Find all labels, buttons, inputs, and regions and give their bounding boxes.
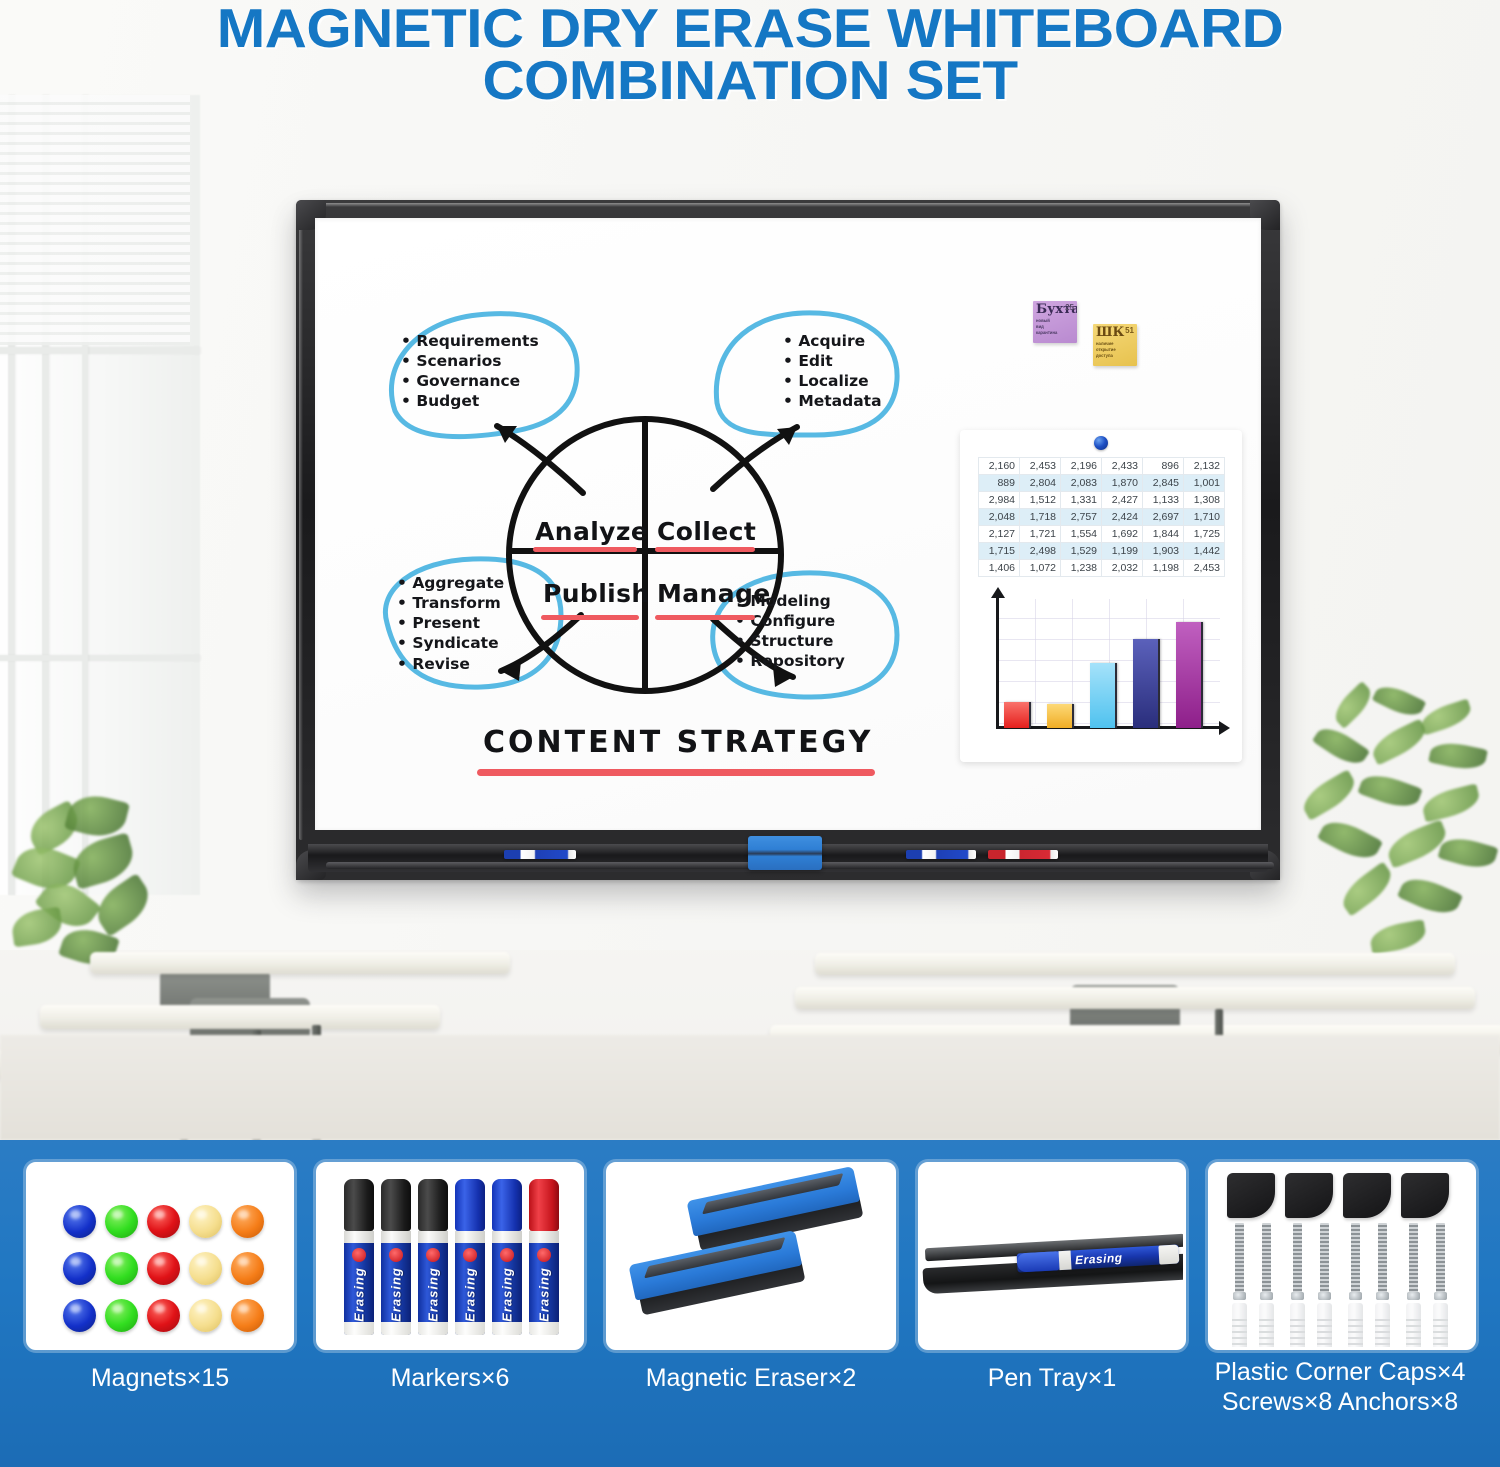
panel-magnets [26,1162,294,1350]
marker-collar [529,1231,559,1243]
anchor [1406,1303,1421,1350]
marker-brand: Erasing [537,1267,552,1322]
magnet [63,1205,96,1238]
bubble-item: Edit [783,351,882,371]
data-card: 2,1602,4532,1962,4338962,1328892,8042,08… [960,430,1242,762]
bubble-item: Syndicate [397,633,504,653]
table-row: 2,0481,7182,7572,4242,6971,710 [979,509,1225,526]
marker-foot [529,1322,559,1335]
screw [1293,1223,1302,1295]
sticky-body: наличие открытие доступа [1093,339,1137,359]
marker-foot [455,1322,485,1335]
quadrant-label-manage: Manage [657,579,771,608]
marker-cap [344,1179,374,1231]
sticky-number: 51 [1125,326,1134,335]
table-cell: 1,001 [1184,475,1225,492]
caption-line-1: Plastic Corner Caps×4 [1190,1358,1490,1388]
anchor [1232,1303,1247,1350]
anchor [1433,1303,1448,1350]
marker-cap [418,1179,448,1231]
table-cell: 1,903 [1143,543,1184,560]
table-row: 8892,8042,0831,8702,8451,001 [979,475,1225,492]
screw [1262,1223,1271,1295]
table-cell: 1,199 [1102,543,1143,560]
caption-eraser: Magnetic Eraser×2 [606,1364,896,1394]
table-cell: 1,331 [1061,492,1102,509]
chart-bar [1047,704,1074,728]
bubble-item: Budget [401,391,539,411]
bubble-item: Aggregate [397,573,504,593]
table-cell: 1,710 [1184,509,1225,526]
table-cell: 1,198 [1143,560,1184,577]
bubble-item: Governance [401,371,539,391]
quadrant-label-analyze: Analyze [535,517,648,546]
quadrant-underline-manage [655,615,755,620]
magnet [189,1252,222,1285]
magnet [231,1205,264,1238]
classroom-floor [0,1035,1500,1140]
corner-cap [1401,1173,1449,1218]
screw-head [1434,1292,1447,1300]
table-cell: 1,554 [1061,526,1102,543]
chart-bar [1090,663,1117,728]
bubble-item: Present [397,613,504,633]
caption-pen-tray: Pen Tray×1 [918,1364,1186,1394]
screw-head [1349,1292,1362,1300]
table-cell: 2,048 [979,509,1020,526]
table-cell: 1,308 [1184,492,1225,509]
screw [1409,1223,1418,1295]
screw-head [1291,1292,1304,1300]
quadrant-label-publish: Publish [543,579,650,608]
screw [1235,1223,1244,1295]
table-cell: 2,433 [1102,458,1143,475]
magnet [231,1252,264,1285]
table-cell: 2,083 [1061,475,1102,492]
table-cell: 2,498 [1020,543,1061,560]
sticky-note-purple: 25 Буxта новый вид карантина [1033,301,1077,343]
whiteboard-surface: Requirements Scenarios Governance Budget… [315,218,1261,830]
marker-collar [455,1231,485,1243]
board-eraser [748,836,822,870]
tray-marker-blue-1 [504,850,576,859]
marker-foot [381,1322,411,1335]
caption-line-1: Magnets×15 [26,1364,294,1394]
bubble-item: Requirements [401,331,539,351]
marker-logo-icon [537,1248,551,1262]
screw [1436,1223,1445,1295]
marker-logo-icon [500,1248,514,1262]
screw [1351,1223,1360,1295]
table-cell: 2,984 [979,492,1020,509]
corner-cap [1343,1173,1391,1218]
panel-hardware [1208,1162,1476,1350]
table-cell: 2,427 [1102,492,1143,509]
table-cell: 896 [1143,458,1184,475]
table-cell: 2,845 [1143,475,1184,492]
quadrant-label-collect: Collect [657,517,756,546]
table-cell: 1,133 [1143,492,1184,509]
corner-cap [1285,1173,1333,1218]
marker-brand: Erasing [500,1267,515,1322]
table-cell: 2,127 [979,526,1020,543]
tray-marker-red [988,850,1058,859]
table-cell: 1,715 [979,543,1020,560]
magnet [147,1205,180,1238]
bubble-item: Localize [783,371,882,391]
table-row: 1,7152,4981,5291,1991,9031,442 [979,543,1225,560]
magnet [63,1299,96,1332]
table-cell: 1,725 [1184,526,1225,543]
headline-line-2: COMBINATION SET [0,54,1500,106]
marker-foot [344,1322,374,1335]
marker-body: Erasing [381,1243,411,1335]
screw [1320,1223,1329,1295]
accessories-banner: Magnets×15 ErasingErasingErasingErasingE… [0,1140,1500,1467]
screw-head [1376,1292,1389,1300]
table-cell: 2,804 [1020,475,1061,492]
chart-bar [1004,702,1031,728]
anchor [1259,1303,1274,1350]
table-cell: 1,529 [1061,543,1102,560]
bubble-item: Metadata [783,391,882,411]
data-table: 2,1602,4532,1962,4338962,1328892,8042,08… [978,457,1225,577]
bar-chart [978,593,1228,745]
bubble-bottom-left: Aggregate Transform Present Syndicate Re… [397,573,504,674]
sticky-note-yellow: 51 ШК наличие открытие доступа [1093,324,1137,366]
marker-body: Erasing [455,1243,485,1335]
bubble-item: Scenarios [401,351,539,371]
magnet [231,1299,264,1332]
marker-brand: Erasing [389,1267,404,1322]
table-cell: 1,844 [1143,526,1184,543]
table-cell: 2,453 [1020,458,1061,475]
marker-logo-icon [463,1248,477,1262]
magnet-dot-icon [1094,436,1108,450]
table-cell: 2,697 [1143,509,1184,526]
anchor [1317,1303,1332,1350]
magnet [105,1205,138,1238]
table-cell: 2,032 [1102,560,1143,577]
marker-collar [492,1231,522,1243]
sticky-number: 25 [1065,303,1074,312]
chart-bar [1133,639,1160,728]
caption-hardware: Plastic Corner Caps×4 Screws×8 Anchors×8 [1190,1358,1490,1417]
magnet [63,1252,96,1285]
panel-pen-tray: Erasing [918,1162,1186,1350]
table-row: 2,1602,4532,1962,4338962,132 [979,458,1225,475]
anchor [1375,1303,1390,1350]
table-cell: 1,238 [1061,560,1102,577]
table-row: 2,1271,7211,5541,6921,8441,725 [979,526,1225,543]
marker-body: Erasing [418,1243,448,1335]
mindmap-title-underline [477,769,875,776]
table-cell: 1,721 [1020,526,1061,543]
screw-head [1233,1292,1246,1300]
content-strategy-diagram: Requirements Scenarios Governance Budget… [365,293,925,803]
corner-cap [1227,1173,1275,1218]
table-cell: 2,160 [979,458,1020,475]
marker-foot [492,1322,522,1335]
caption-line-1: Pen Tray×1 [918,1364,1186,1394]
hero-scene: Requirements Scenarios Governance Budget… [0,0,1500,1140]
table-cell: 1,442 [1184,543,1225,560]
marker-body: Erasing [344,1243,374,1335]
quadrant-underline-collect [655,547,755,552]
marker-cap [455,1179,485,1231]
table-cell: 1,692 [1102,526,1143,543]
panel-eraser [606,1162,896,1350]
marker-collar [344,1231,374,1243]
table-cell: 2,757 [1061,509,1102,526]
screw-head [1407,1292,1420,1300]
marker-brand: Erasing [426,1267,441,1322]
window-blinds [0,95,190,345]
marker-logo-icon [352,1248,366,1262]
bubble-item: Repository [735,651,845,671]
magnet [189,1205,222,1238]
table-row: 1,4061,0721,2382,0321,1982,453 [979,560,1225,577]
bubble-item: Acquire [783,331,882,351]
quadrant-underline-publish [541,615,639,620]
quadrant-underline-analyze [533,547,637,552]
bubble-item: Revise [397,654,504,674]
marker-foot [418,1322,448,1335]
marker-logo-icon [389,1248,403,1262]
table-cell: 2,424 [1102,509,1143,526]
whiteboard: Requirements Scenarios Governance Budget… [296,200,1280,880]
panel-markers: ErasingErasingErasingErasingErasingErasi… [316,1162,584,1350]
sticky-body: новый вид карантина [1033,316,1077,336]
marker-collar [418,1231,448,1243]
magnet [105,1252,138,1285]
table-cell: 2,196 [1061,458,1102,475]
table-row: 2,9841,5121,3312,4271,1331,308 [979,492,1225,509]
bubble-top-right: Acquire Edit Localize Metadata [783,331,882,412]
table-cell: 1,406 [979,560,1020,577]
table-cell: 2,132 [1184,458,1225,475]
anchor [1348,1303,1363,1350]
screw [1378,1223,1387,1295]
magnet [147,1299,180,1332]
headline-line-1: MAGNETIC DRY ERASE WHITEBOARD [0,2,1500,54]
table-cell: 1,718 [1020,509,1061,526]
pen-tray-marker-brand: Erasing [1075,1251,1123,1268]
table-cell: 1,512 [1020,492,1061,509]
table-cell: 2,453 [1184,560,1225,577]
marker-brand: Erasing [463,1267,478,1322]
marker-cap [492,1179,522,1231]
bubble-top-left: Requirements Scenarios Governance Budget [401,331,539,412]
screw-head [1260,1292,1273,1300]
marker-cap [381,1179,411,1231]
caption-line-1: Magnetic Eraser×2 [606,1364,896,1394]
caption-markers: Markers×6 [316,1364,584,1394]
bubble-item: Structure [735,631,845,651]
bubble-item: Transform [397,593,504,613]
caption-line-2: Screws×8 Anchors×8 [1190,1388,1490,1418]
marker-body: Erasing [492,1243,522,1335]
caption-line-1: Markers×6 [316,1364,584,1394]
screw-head [1318,1292,1331,1300]
table-cell: 1,072 [1020,560,1061,577]
marker-logo-icon [426,1248,440,1262]
caption-magnets: Magnets×15 [26,1364,294,1394]
chart-bar [1176,622,1203,728]
magnet [147,1252,180,1285]
marker-cap [529,1179,559,1231]
table-cell: 889 [979,475,1020,492]
anchor [1290,1303,1305,1350]
mindmap-title: CONTENT STRATEGY [483,725,873,760]
magnet [189,1299,222,1332]
table-cell: 1,870 [1102,475,1143,492]
marker-body: Erasing [529,1243,559,1335]
marker-collar [381,1231,411,1243]
page-title: MAGNETIC DRY ERASE WHITEBOARD COMBINATIO… [0,0,1500,107]
magnet [105,1299,138,1332]
tray-marker-blue-2 [906,850,976,859]
marker-brand: Erasing [352,1267,367,1322]
